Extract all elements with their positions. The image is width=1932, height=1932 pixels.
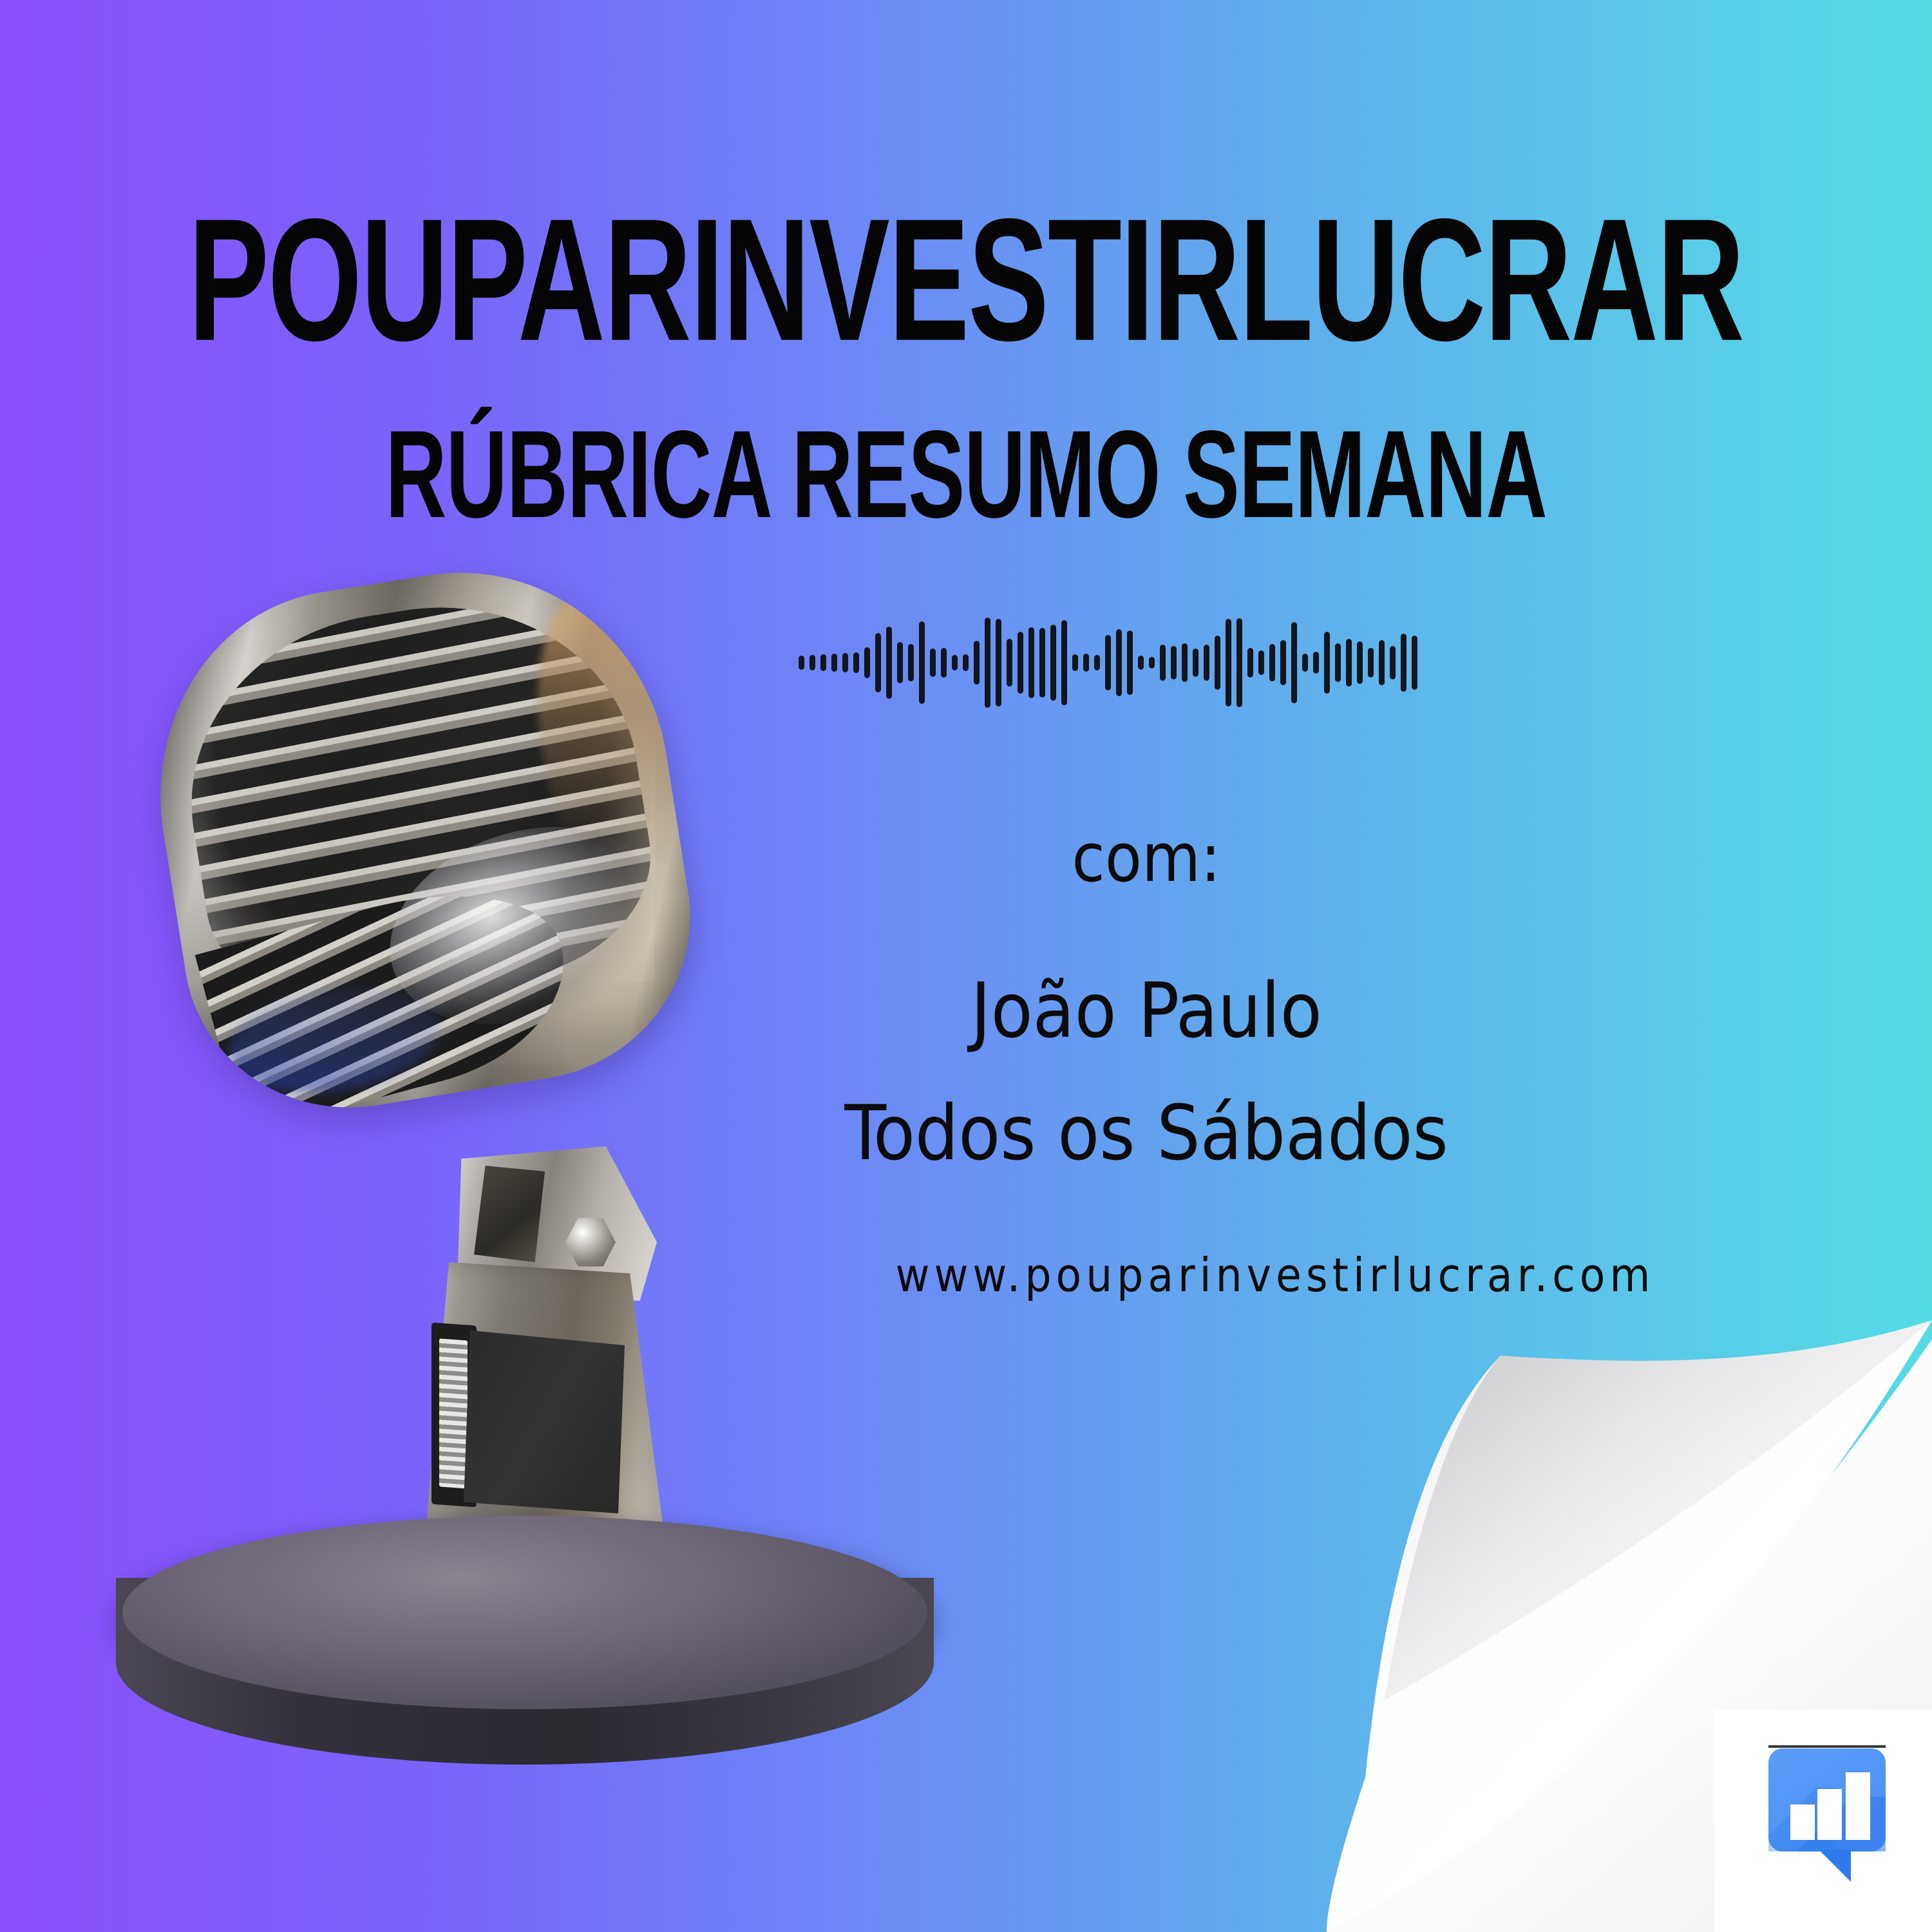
waveform-bar xyxy=(1324,632,1330,694)
waveform-bar xyxy=(831,654,837,672)
waveform-bar xyxy=(952,655,958,670)
waveform-bar xyxy=(1390,646,1396,679)
waveform-bar xyxy=(799,656,804,670)
waveform-bar xyxy=(1226,619,1231,706)
host-name: João Paulo xyxy=(811,972,1481,1048)
podcast-cover-poster: POUPARINVESTIRLUCRAR RÚBRICA RESUMO SEMA… xyxy=(0,0,1932,1932)
waveform-bar xyxy=(1083,654,1089,672)
logo-bar-1 xyxy=(1790,1804,1815,1840)
logo-bar-3 xyxy=(1846,1772,1870,1840)
microphone-ribbed-detail xyxy=(439,1338,468,1488)
waveform-bar xyxy=(1127,630,1133,695)
page-subtitle: RÚBRICA RESUMO SEMANA xyxy=(0,412,1932,502)
waveform-bar xyxy=(941,648,947,677)
waveform-bar xyxy=(1368,648,1374,677)
waveform-bar xyxy=(1149,657,1155,668)
waveform-bar xyxy=(1412,636,1417,690)
audio-waveform xyxy=(799,621,1391,704)
waveform-bar xyxy=(1401,634,1406,692)
waveform-bar xyxy=(1116,629,1122,696)
waveform-bar xyxy=(1018,632,1023,694)
waveform-bar xyxy=(930,649,936,677)
waveform-bar xyxy=(1346,639,1352,687)
waveform-bar xyxy=(1182,643,1188,682)
waveform-bar xyxy=(1280,640,1286,685)
waveform-bar xyxy=(963,654,969,671)
logo-bubble-tail xyxy=(1819,1850,1851,1882)
page-title: POUPARINVESTIRLUCRAR xyxy=(0,193,1932,319)
microphone-base-top xyxy=(122,1516,927,1709)
schedule-text: Todos os Sábados xyxy=(741,1095,1552,1171)
waveform-bar xyxy=(1171,646,1177,679)
waveform-bar xyxy=(1105,635,1111,690)
waveform-bar xyxy=(908,644,914,681)
microphone-head-shell xyxy=(130,543,713,1132)
logo-speech-bubble-chart-icon[interactable] xyxy=(1766,1745,1888,1884)
logo-top-rule xyxy=(1768,1745,1886,1748)
waveform-bar xyxy=(1094,655,1100,670)
waveform-bar xyxy=(1357,641,1363,684)
waveform-bar xyxy=(1269,644,1275,681)
waveform-bar xyxy=(1335,643,1341,682)
waveform-bar xyxy=(1039,628,1045,697)
waveform-bar xyxy=(820,654,826,671)
waveform-bar xyxy=(1050,625,1056,701)
with-label: com: xyxy=(902,824,1391,891)
waveform-bar xyxy=(919,621,925,704)
waveform-bar xyxy=(1007,639,1012,687)
page-subtitle-text: RÚBRICA RESUMO SEMANA xyxy=(385,412,1546,536)
waveform-bar xyxy=(1028,627,1034,698)
waveform-bar xyxy=(1291,622,1297,703)
waveform-bar xyxy=(886,627,892,699)
waveform-bar xyxy=(974,641,980,685)
waveform-bar xyxy=(1236,618,1242,707)
waveform-bar xyxy=(1379,640,1385,685)
waveform-bar xyxy=(1258,650,1264,675)
waveform-bar xyxy=(1160,645,1166,681)
page-title-text: POUPARINVESTIRLUCRAR xyxy=(189,193,1744,367)
waveform-bar xyxy=(1061,620,1067,705)
waveform-bar xyxy=(1313,652,1319,674)
waveform-bar xyxy=(1247,648,1253,677)
waveform-bar xyxy=(875,633,881,692)
waveform-bar xyxy=(1138,656,1144,670)
waveform-bar xyxy=(810,655,815,670)
waveform-bar xyxy=(853,652,859,673)
waveform-bar xyxy=(1215,636,1220,690)
waveform-bar xyxy=(996,619,1001,706)
waveform-bar xyxy=(985,618,990,708)
microphone-head xyxy=(167,580,676,1095)
waveform-bar xyxy=(1072,654,1078,671)
logo-bar-2 xyxy=(1817,1789,1842,1840)
microphone-front-panel xyxy=(464,1327,625,1513)
waveform-bar xyxy=(1193,649,1198,677)
waveform-bar xyxy=(1302,654,1308,672)
microphone-yoke-cutout xyxy=(474,1166,545,1262)
waveform-bar xyxy=(842,653,848,672)
waveform-bar xyxy=(864,647,870,678)
waveform-bar xyxy=(897,642,903,683)
waveform-bar xyxy=(1204,645,1209,681)
